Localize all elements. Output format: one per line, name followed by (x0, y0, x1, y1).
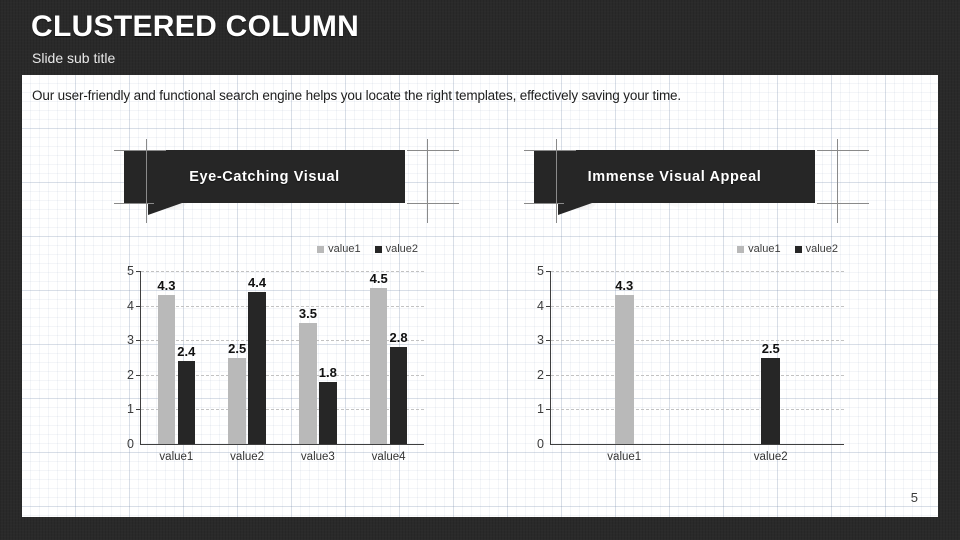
y-axis-tick-mark (546, 306, 551, 307)
page-title: CLUSTERED COLUMN (31, 10, 359, 44)
x-axis-category-label: value3 (301, 451, 335, 463)
content-panel: Our user-friendly and functional search … (22, 75, 938, 517)
crop-mark-left-vertical (146, 139, 147, 223)
x-axis-category-label: value2 (754, 451, 788, 463)
slide-header: CLUSTERED COLUMN Slide sub title (0, 0, 960, 75)
y-axis-tick-mark (546, 271, 551, 272)
banner-right[interactable]: Immense Visual Appeal (534, 150, 815, 215)
legend-item-value2[interactable]: value2 (375, 243, 418, 255)
bar-value-label: 3.5 (299, 306, 317, 321)
x-axis-category-label: value4 (372, 451, 406, 463)
page-number: 5 (911, 490, 918, 505)
legend-label: value2 (386, 243, 418, 255)
legend-label: value1 (328, 243, 360, 255)
bar-value-label: 4.3 (157, 278, 175, 293)
legend-swatch-icon (795, 246, 802, 253)
bar-value-label: 2.4 (177, 344, 195, 359)
chart-right-plot-area: 012345value14.3value22.5 (550, 271, 844, 445)
banner-right-label: Immense Visual Appeal (588, 169, 762, 185)
legend-swatch-icon (737, 246, 744, 253)
bar-value2-value2[interactable]: 2.5 (761, 358, 780, 445)
bar-value-label: 2.5 (762, 341, 780, 356)
y-axis-tick-label: 5 (127, 264, 134, 278)
legend-swatch-icon (317, 246, 324, 253)
y-axis-tick-mark (136, 271, 141, 272)
legend-item-value1[interactable]: value1 (317, 243, 360, 255)
chart-left: value1value2 012345value14.32.4value22.5… (104, 243, 424, 473)
legend-item-value1[interactable]: value1 (737, 243, 780, 255)
y-axis-tick-mark (136, 306, 141, 307)
bar-value1-value1[interactable]: 4.3 (615, 295, 634, 444)
crop-mark-bottom-left-horizontal (524, 203, 564, 204)
y-axis-tick-label: 3 (127, 333, 134, 347)
y-axis-tick-label: 0 (127, 437, 134, 451)
legend-item-value2[interactable]: value2 (795, 243, 838, 255)
chart-right: value1value2 012345value14.3value22.5 (514, 243, 844, 473)
banner-left-box: Eye-Catching Visual (124, 150, 405, 203)
chart-left-plot-area: 012345value14.32.4value22.54.4value33.51… (140, 271, 424, 445)
banner-left-tail (148, 203, 182, 215)
bar-value-label: 2.5 (228, 341, 246, 356)
bar-value2-value4[interactable]: 2.8 (390, 347, 408, 444)
y-axis-tick-mark (136, 340, 141, 341)
crop-mark-top-left-horizontal (114, 150, 166, 151)
banner-right-box: Immense Visual Appeal (534, 150, 815, 203)
y-axis-tick-label: 4 (127, 299, 134, 313)
bar-value-label: 4.4 (248, 275, 266, 290)
bar-value1-value1[interactable]: 4.3 (158, 295, 176, 444)
gridline (551, 340, 844, 341)
gridline (551, 271, 844, 272)
x-axis-category-label: value1 (607, 451, 641, 463)
y-axis-tick-mark (136, 375, 141, 376)
bar-value-label: 4.3 (615, 278, 633, 293)
legend-swatch-icon (375, 246, 382, 253)
crop-mark-bottom-right-horizontal (407, 203, 459, 204)
gridline (551, 375, 844, 376)
x-axis-category-label: value2 (230, 451, 264, 463)
chart-right-legend: value1value2 (737, 243, 838, 255)
crop-mark-right-vertical (427, 139, 428, 223)
x-axis-category-label: value1 (159, 451, 193, 463)
y-axis-tick-label: 0 (537, 437, 544, 451)
y-axis-tick-mark (546, 340, 551, 341)
gridline (551, 409, 844, 410)
bar-value1-value2[interactable]: 2.5 (228, 358, 246, 445)
y-axis-tick-label: 1 (127, 402, 134, 416)
y-axis-tick-label: 5 (537, 264, 544, 278)
y-axis-tick-mark (546, 409, 551, 410)
y-axis-tick-label: 3 (537, 333, 544, 347)
y-axis-tick-mark (136, 409, 141, 410)
banner-left[interactable]: Eye-Catching Visual (124, 150, 405, 215)
gridline (551, 306, 844, 307)
page-subtitle: Slide sub title (32, 50, 115, 66)
bar-value-label: 4.5 (370, 271, 388, 286)
y-axis-tick-mark (546, 375, 551, 376)
crop-mark-right-vertical (837, 139, 838, 223)
slide-canvas: CLUSTERED COLUMN Slide sub title Our use… (0, 0, 960, 540)
legend-label: value1 (748, 243, 780, 255)
y-axis-tick-label: 2 (537, 368, 544, 382)
bar-value2-value1[interactable]: 2.4 (178, 361, 196, 444)
crop-mark-top-right-horizontal (817, 150, 869, 151)
lead-paragraph: Our user-friendly and functional search … (32, 88, 681, 103)
bar-value1-value4[interactable]: 4.5 (370, 288, 388, 444)
crop-mark-bottom-right-horizontal (817, 203, 869, 204)
banner-right-tail (558, 203, 592, 215)
bar-value1-value3[interactable]: 3.5 (299, 323, 317, 444)
chart-left-legend: value1value2 (317, 243, 418, 255)
legend-label: value2 (806, 243, 838, 255)
bar-value2-value3[interactable]: 1.8 (319, 382, 337, 444)
y-axis-tick-label: 1 (537, 402, 544, 416)
crop-mark-bottom-left-horizontal (114, 203, 154, 204)
y-axis-tick-label: 2 (127, 368, 134, 382)
banner-left-label: Eye-Catching Visual (189, 169, 340, 185)
bar-value-label: 1.8 (319, 365, 337, 380)
bar-value-label: 2.8 (389, 330, 407, 345)
y-axis-tick-label: 4 (537, 299, 544, 313)
bar-value2-value2[interactable]: 4.4 (248, 292, 266, 444)
crop-mark-top-left-horizontal (524, 150, 576, 151)
crop-mark-top-right-horizontal (407, 150, 459, 151)
crop-mark-left-vertical (556, 139, 557, 223)
